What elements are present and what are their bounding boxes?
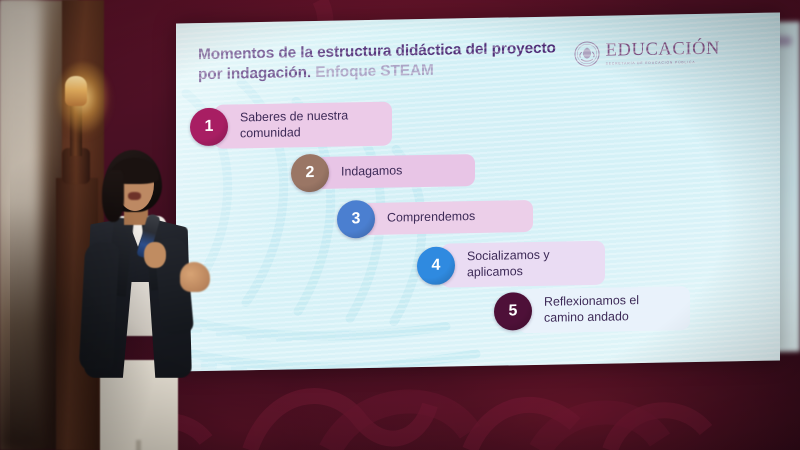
speaker-gesturing-hand — [180, 262, 210, 292]
speaker-mouth — [128, 192, 141, 200]
projected-slide: Momentos de la estructura didáctica del … — [176, 12, 780, 371]
step-label-1: Saberes de nuestra comunidad — [214, 102, 392, 149]
step-item-1: 1Saberes de nuestra comunidad — [190, 102, 392, 149]
step-item-2: 2Indagamos — [291, 151, 475, 192]
step-label-3: Comprendemos — [361, 200, 533, 235]
step-item-5: 5Reflexionamos el camino andado — [494, 286, 690, 333]
step-label-4: Socializamos y aplicamos — [441, 241, 605, 288]
lamp-shade-icon — [65, 76, 87, 106]
room-left-wall-blur — [0, 0, 40, 450]
speaker-arm-left — [79, 241, 120, 373]
speaker-pants-seam — [136, 440, 141, 450]
step-item-4: 4Socializamos y aplicamos — [417, 241, 605, 288]
steps-staircase: 1Saberes de nuestra comunidad2Indagamos3… — [176, 12, 780, 371]
step-label-2: Indagamos — [315, 154, 475, 189]
step-item-3: 3Comprendemos — [337, 197, 533, 239]
speaker-hair-side — [102, 170, 124, 222]
step-label-5: Reflexionamos el camino andado — [518, 286, 690, 333]
stage-scene: Momentos de la estructura didáctica del … — [0, 0, 800, 450]
speaker-hand-holding-mic — [144, 242, 166, 268]
speaker-person — [62, 150, 242, 450]
